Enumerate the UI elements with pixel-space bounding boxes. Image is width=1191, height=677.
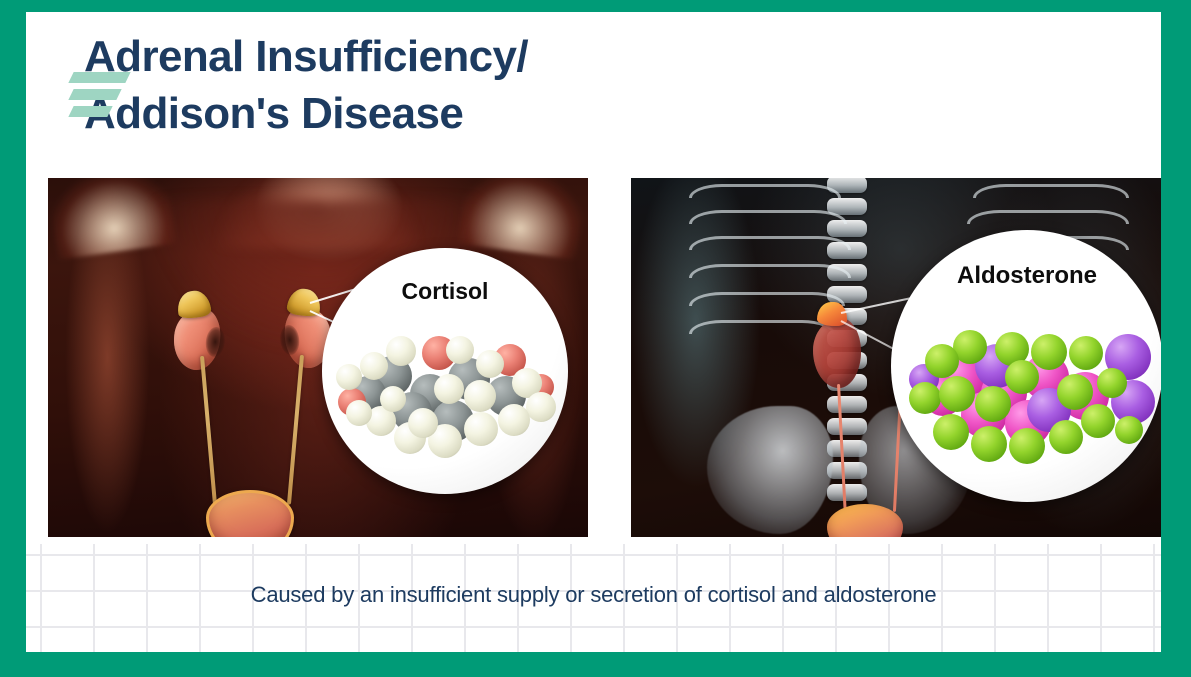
rib-right-2 [967, 210, 1129, 224]
rib-right-1 [973, 184, 1129, 198]
callout-cortisol[interactable]: Cortisol [322, 248, 568, 494]
cortisol-molecule-model [336, 330, 558, 458]
slide-canvas: Adrenal Insufficiency/ Addison's Disease [26, 12, 1161, 652]
rib-left-4 [689, 264, 851, 278]
callout-label-cortisol: Cortisol [322, 278, 568, 305]
aldosterone-molecule-model [909, 330, 1149, 466]
slanted-stripes-icon [71, 72, 131, 122]
callout-aldosterone[interactable]: Aldosterone [891, 230, 1161, 502]
callout-label-aldosterone: Aldosterone [891, 262, 1161, 290]
urinary-bladder [206, 490, 294, 537]
image-panels: Cortisol [48, 178, 1146, 537]
rib-left-2 [689, 210, 847, 224]
page-title: Adrenal Insufficiency/ Addison's Disease [84, 28, 984, 142]
slide-root: Adrenal Insufficiency/ Addison's Disease [0, 0, 1191, 677]
rib-left-6 [689, 320, 835, 334]
rib-left-3 [689, 236, 851, 250]
rib-left-1 [689, 184, 841, 198]
slide-caption: Caused by an insufficient supply or secr… [26, 582, 1161, 608]
rib-left-5 [689, 292, 845, 306]
title-block: Adrenal Insufficiency/ Addison's Disease [84, 28, 984, 142]
panel-torso-urinary-system[interactable]: Cortisol [48, 178, 588, 537]
panel-skeletal-xray[interactable]: Aldosterone [631, 178, 1161, 537]
